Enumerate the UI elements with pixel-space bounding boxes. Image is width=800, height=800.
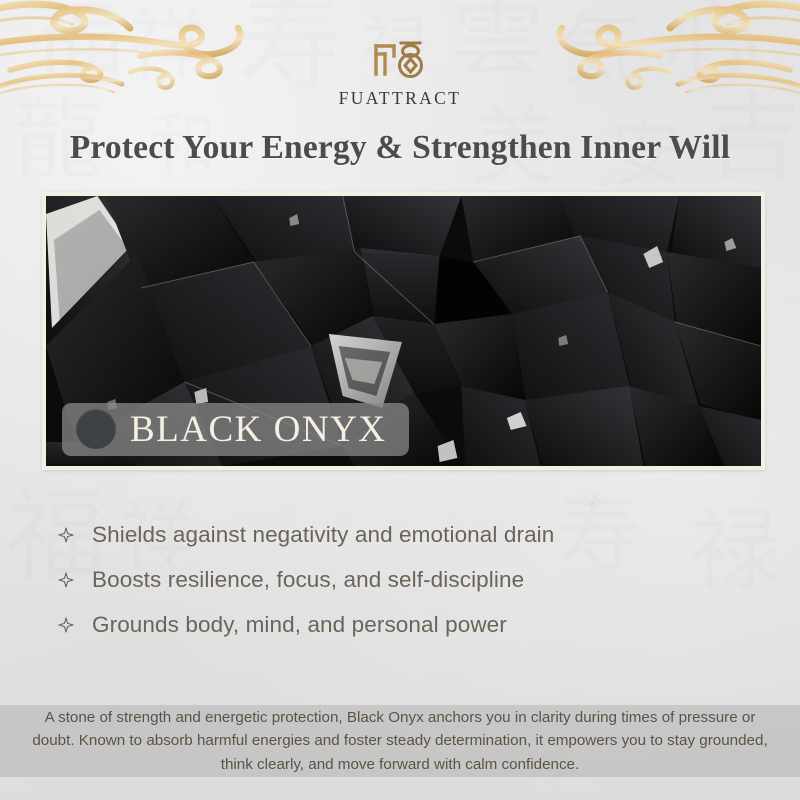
sparkle-icon: [58, 572, 74, 588]
list-item-label: Shields against negativity and emotional…: [92, 522, 554, 548]
list-item: Grounds body, mind, and personal power: [58, 612, 554, 638]
stone-name-badge: BLACK ONYX: [62, 403, 409, 456]
brand-name: FUATTRACT: [339, 88, 462, 109]
poster-canvas: 福 祥 寿 禄 雲 気 心 龍 和 美 安 吉 福 祥 寿 禄: [0, 0, 800, 800]
fuattract-seal-logo-icon: [370, 34, 430, 85]
description-text: A stone of strength and energetic protec…: [28, 706, 772, 775]
sparkle-icon: [58, 527, 74, 543]
benefits-list: Shields against negativity and emotional…: [58, 522, 554, 638]
list-item-label: Boosts resilience, focus, and self-disci…: [92, 567, 524, 593]
page-title: Protect Your Energy & Strengthen Inner W…: [0, 129, 800, 167]
brand-header: FUATTRACT: [0, 34, 800, 109]
black-onyx-photo: BLACK ONYX: [46, 196, 761, 466]
list-item: Boosts resilience, focus, and self-disci…: [58, 567, 554, 593]
stone-name: BLACK ONYX: [130, 411, 387, 448]
description-band: A stone of strength and energetic protec…: [0, 705, 800, 777]
stone-photo-frame: BLACK ONYX: [42, 192, 765, 470]
list-item-label: Grounds body, mind, and personal power: [92, 612, 507, 638]
sparkle-icon: [58, 617, 74, 633]
list-item: Shields against negativity and emotional…: [58, 522, 554, 548]
stone-color-swatch-icon: [76, 409, 116, 449]
